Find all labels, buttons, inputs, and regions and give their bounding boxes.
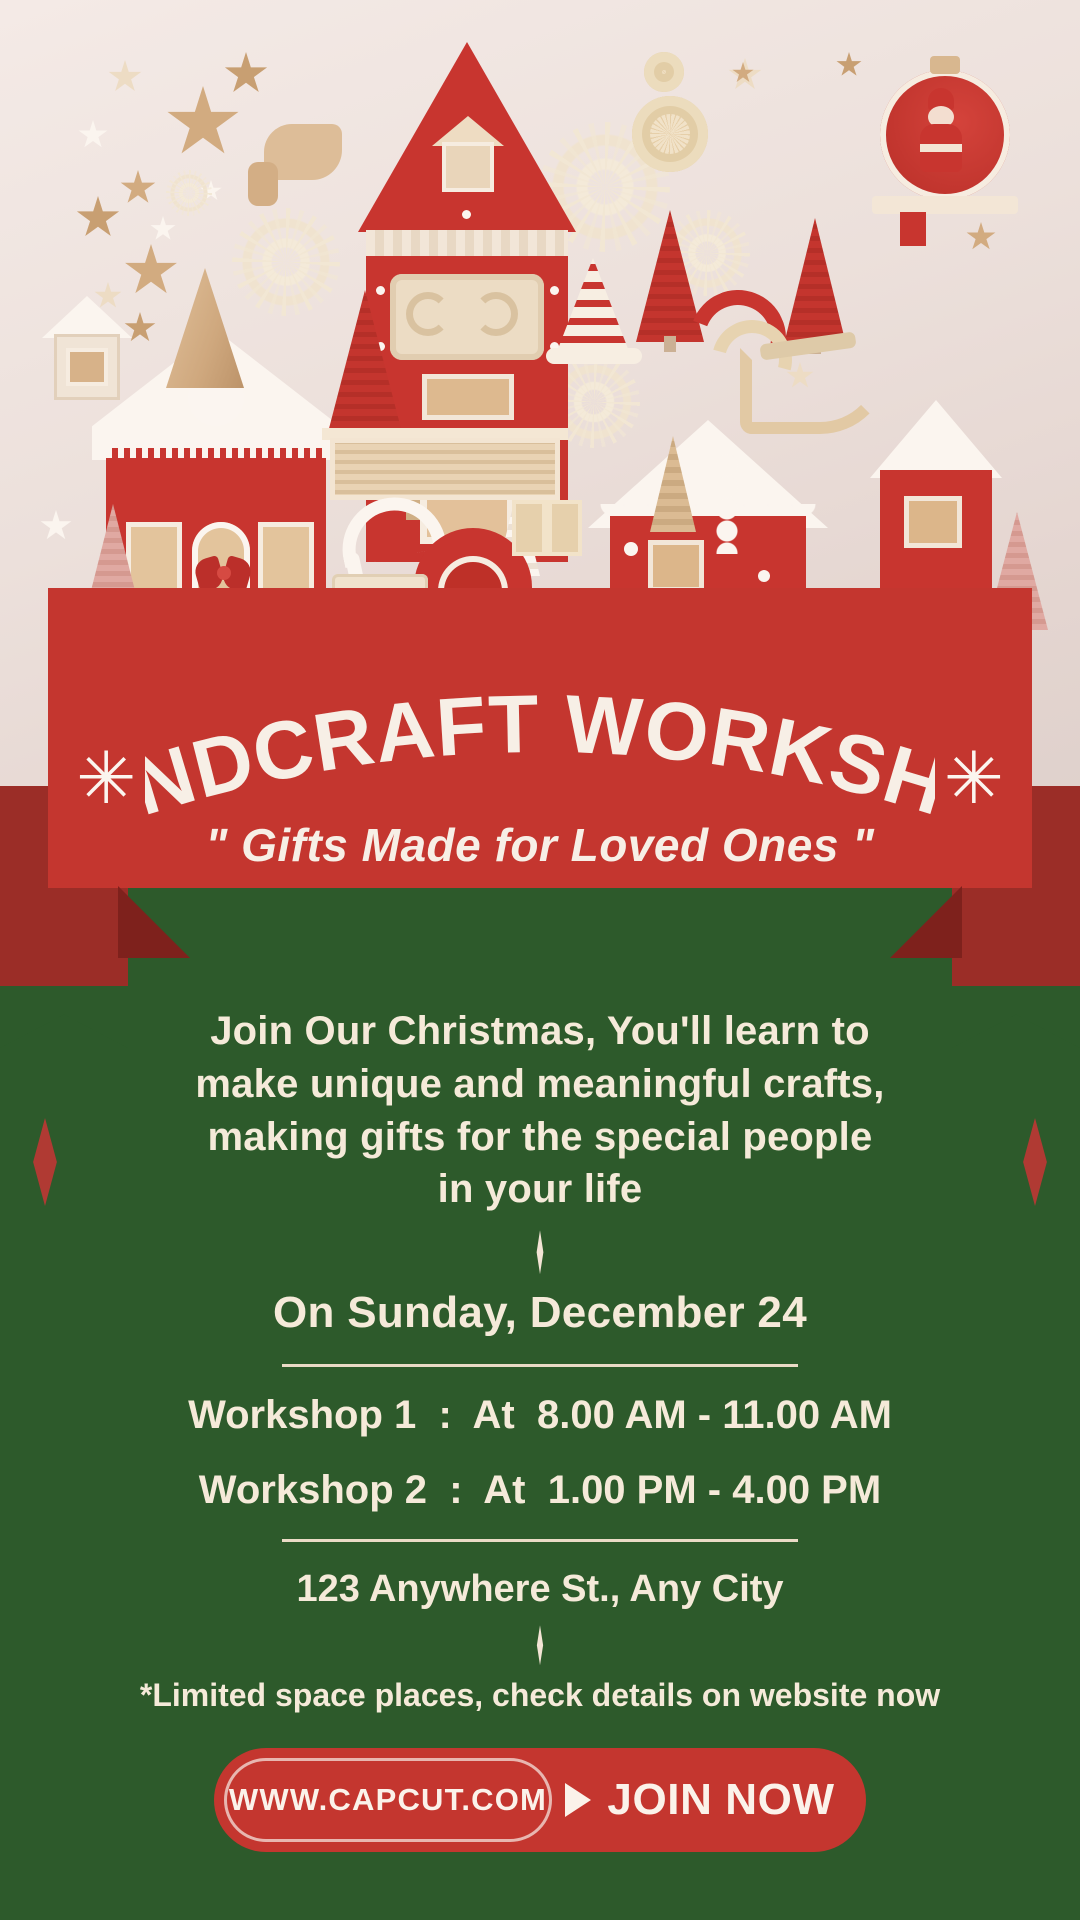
paper-doily-icon bbox=[632, 96, 708, 172]
santa-ornament bbox=[880, 70, 1010, 200]
page-subtitle: " Gifts Made for Loved Ones " bbox=[206, 818, 875, 872]
paper-snowflake-icon bbox=[166, 170, 212, 216]
ornament-cap-icon bbox=[930, 56, 960, 74]
sparkle-divider-icon-2 bbox=[528, 1625, 552, 1665]
snowflake-asterisk-left-icon: ✳ bbox=[76, 742, 136, 814]
event-details: Join Our Christmas, You'll learn to make… bbox=[0, 1005, 1080, 1852]
birdhouse-box bbox=[42, 296, 132, 406]
title-ribbon: ✳ HANDCRAFT WORKSHOP ✳ " Gifts Made for … bbox=[0, 700, 1080, 1020]
page-title: HANDCRAFT WORKSHOP bbox=[145, 692, 935, 824]
limited-space-note: *Limited space places, check details on … bbox=[140, 1677, 940, 1714]
join-now-label: JOIN NOW bbox=[607, 1775, 834, 1825]
paper-snowflake-icon bbox=[232, 208, 340, 316]
play-triangle-icon bbox=[565, 1783, 591, 1817]
cta-bar[interactable]: WWW.CAPCUT.COM JOIN NOW bbox=[214, 1748, 866, 1852]
page-title-text: HANDCRAFT WORKSHOP bbox=[145, 692, 935, 824]
paper-cone-tan bbox=[166, 268, 244, 388]
intro-paragraph: Join Our Christmas, You'll learn to make… bbox=[190, 1005, 890, 1216]
small-house bbox=[870, 400, 1002, 590]
ribbon-fold-left bbox=[118, 886, 190, 958]
session-list: Workshop 1 : At 8.00 AM - 11.00 AM Works… bbox=[188, 1393, 892, 1513]
bottlebrush-tree-red bbox=[784, 218, 846, 344]
website-url-button[interactable]: WWW.CAPCUT.COM bbox=[224, 1758, 552, 1842]
join-now-button[interactable]: JOIN NOW bbox=[552, 1775, 866, 1825]
ornament-base bbox=[900, 212, 926, 246]
gift-ribbon bbox=[542, 500, 552, 556]
divider-rule-bottom bbox=[282, 1539, 798, 1542]
bottlebrush-tree-red bbox=[326, 290, 404, 440]
event-address: 123 Anywhere St., Any City bbox=[296, 1568, 783, 1611]
santa-figure-icon bbox=[916, 88, 964, 182]
session-row: Workshop 2 : At 1.00 PM - 4.00 PM bbox=[199, 1468, 881, 1513]
paper-tree-tan bbox=[650, 436, 696, 532]
wooden-shutter-panel bbox=[330, 438, 560, 500]
reindeer-cutout-icon bbox=[248, 162, 278, 206]
divider-rule-top bbox=[282, 1364, 798, 1367]
ornament-shelf bbox=[872, 196, 1018, 214]
pearl-garland bbox=[716, 454, 738, 554]
title-row: ✳ HANDCRAFT WORKSHOP ✳ bbox=[70, 692, 1010, 824]
poster-root: ✳ HANDCRAFT WORKSHOP ✳ " Gifts Made for … bbox=[0, 0, 1080, 1920]
sparkle-divider-icon bbox=[527, 1230, 553, 1274]
ribbon-text-group: ✳ HANDCRAFT WORKSHOP ✳ " Gifts Made for … bbox=[48, 588, 1032, 888]
session-row: Workshop 1 : At 8.00 AM - 11.00 AM bbox=[188, 1393, 892, 1438]
snowflake-asterisk-right-icon: ✳ bbox=[944, 742, 1004, 814]
event-date: On Sunday, December 24 bbox=[273, 1288, 807, 1338]
svg-text:HANDCRAFT WORKSHOP: HANDCRAFT WORKSHOP bbox=[145, 692, 935, 824]
ribbon-fold-right bbox=[890, 886, 962, 958]
hat-brim bbox=[546, 348, 642, 364]
paper-doily-icon bbox=[644, 52, 684, 92]
